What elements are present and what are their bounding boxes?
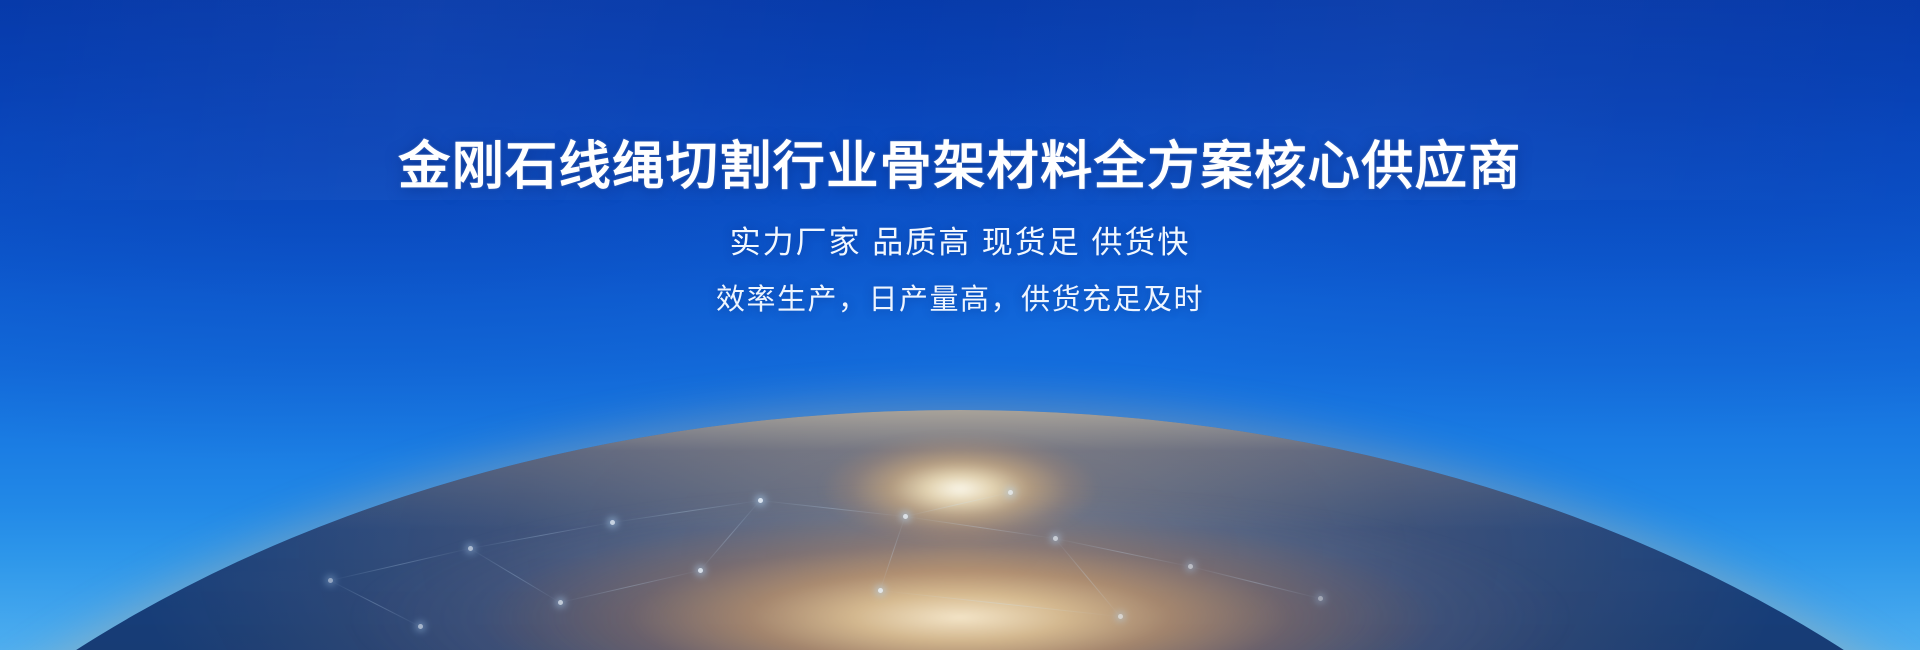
page-title: 金刚石线绳切割行业骨架材料全方案核心供应商 bbox=[0, 0, 1920, 198]
subtitle-line-1: 实力厂家 品质高 现货足 供货快 bbox=[0, 198, 1920, 264]
subtitle-line-2: 效率生产，日产量高，供货充足及时 bbox=[0, 264, 1920, 320]
network-overlay bbox=[0, 430, 1920, 650]
hero-banner: 金刚石线绳切割行业骨架材料全方案核心供应商 实力厂家 品质高 现货足 供货快 效… bbox=[0, 0, 1920, 650]
banner-text-block: 金刚石线绳切割行业骨架材料全方案核心供应商 实力厂家 品质高 现货足 供货快 效… bbox=[0, 0, 1920, 320]
